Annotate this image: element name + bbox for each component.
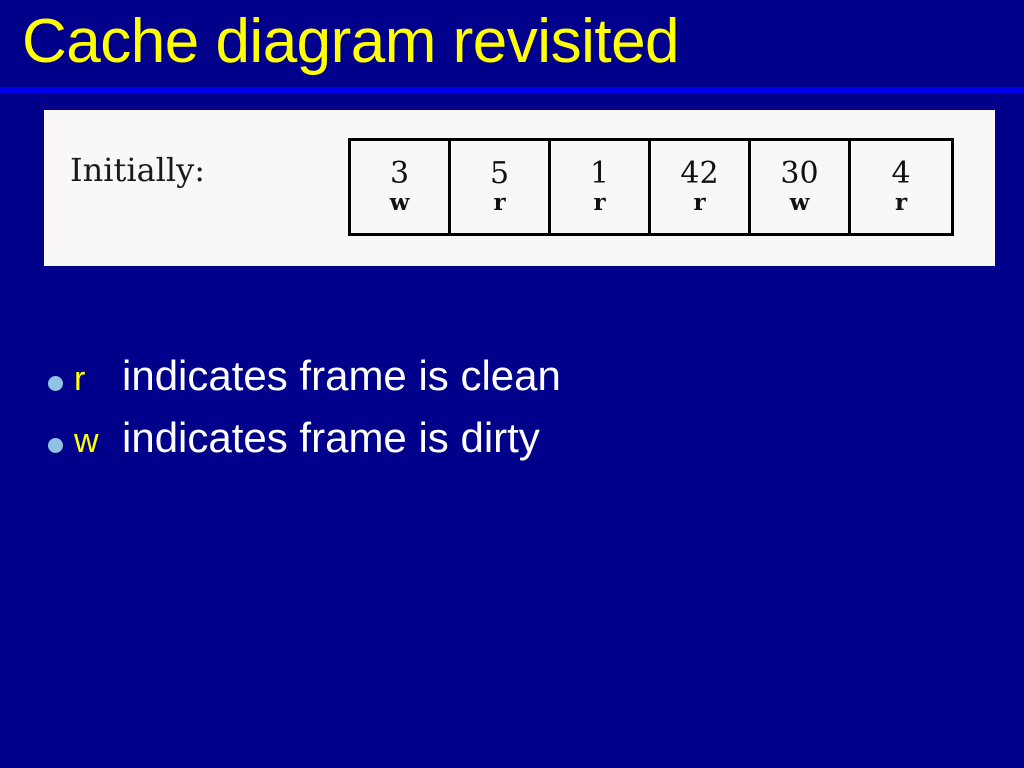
cache-frame-flag: w <box>390 191 410 215</box>
figure-caption: Initially: <box>70 152 205 188</box>
cache-frame-cell: 3 w <box>351 141 451 233</box>
bullet-code-label: r <box>74 357 122 401</box>
cache-frame-cell: 4 r <box>851 141 951 233</box>
cache-frame-value: 3 <box>390 159 409 189</box>
cache-frame-value: 5 <box>490 159 509 189</box>
bullet-text: indicates frame is clean <box>122 352 561 400</box>
cache-frame-flag: r <box>593 191 605 215</box>
page-title: Cache diagram revisited <box>22 4 679 80</box>
cache-frame-cell: 42 r <box>651 141 751 233</box>
cache-frame-value: 42 <box>680 159 718 189</box>
title-divider <box>0 87 1024 93</box>
bullet-point-icon <box>40 376 74 391</box>
cache-frame-cell: 1 r <box>551 141 651 233</box>
cache-frame-value: 30 <box>780 159 818 189</box>
figure-panel: Initially: 3 w 5 r 1 r 42 r 30 w 4 r <box>44 110 995 266</box>
cache-frame-flag: r <box>693 191 705 215</box>
list-item: w indicates frame is dirty <box>40 414 940 476</box>
bullet-text: indicates frame is dirty <box>122 414 540 462</box>
bullet-point-icon <box>40 438 74 453</box>
bullet-code-label: w <box>74 419 122 463</box>
bullet-list: r indicates frame is clean w indicates f… <box>40 352 940 476</box>
cache-frame-value: 1 <box>590 159 609 189</box>
list-item: r indicates frame is clean <box>40 352 940 414</box>
cache-frame-flag: r <box>895 191 907 215</box>
cache-frame-cell: 30 w <box>751 141 851 233</box>
cache-frame-cell: 5 r <box>451 141 551 233</box>
cache-frame-table: 3 w 5 r 1 r 42 r 30 w 4 r <box>348 138 954 236</box>
cache-frame-flag: w <box>790 191 810 215</box>
cache-frame-value: 4 <box>891 159 910 189</box>
cache-frame-flag: r <box>493 191 505 215</box>
